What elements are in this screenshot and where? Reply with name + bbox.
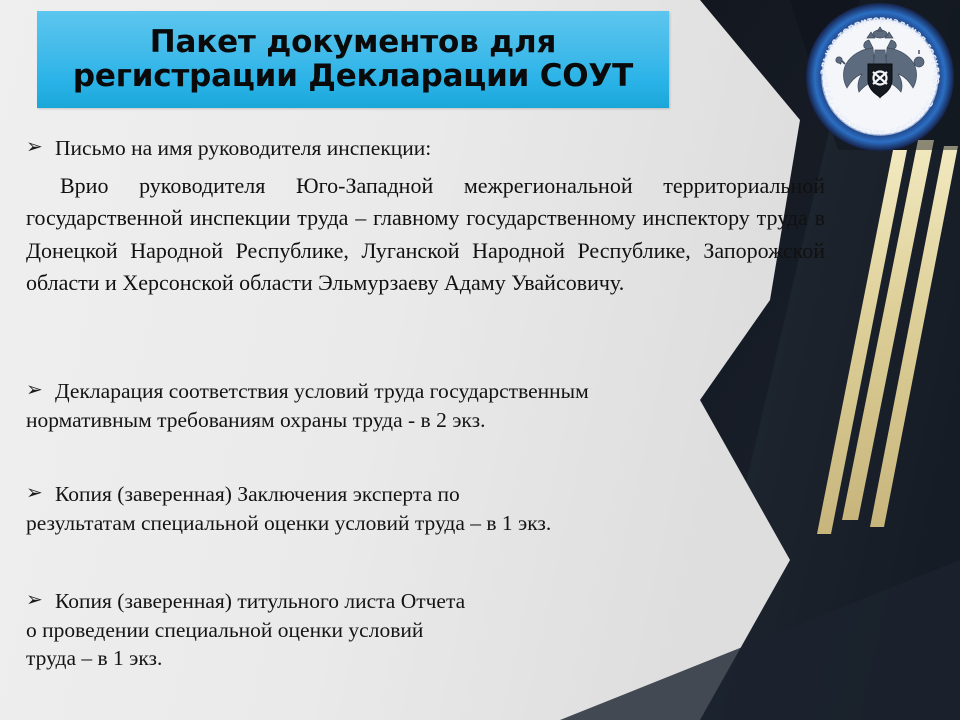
content-block-letter: ➢ Письмо на имя руководителя инспекции:	[0, 134, 860, 163]
bullet-arrow-icon: ➢	[26, 134, 43, 161]
slide-canvas: Пакет документов для регистрации Деклара…	[0, 0, 960, 720]
bullet-arrow-icon: ➢	[26, 480, 43, 507]
bullet-item-report-title-page: ➢ Копия (заверенная) титульного листа От…	[0, 587, 860, 616]
bullet-item-expert-opinion: ➢ Копия (заверенная) Заключения эксперта…	[0, 480, 860, 509]
expert-opinion-line-2: результатам специальной оценки условий т…	[0, 509, 860, 538]
bullet-item-declaration: ➢ Декларация соответствия условий труда …	[0, 377, 860, 406]
content-block-letter-body: Врио руководителя Юго-Западной межрегион…	[0, 170, 860, 299]
page-title: Пакет документов для регистрации Деклара…	[73, 26, 633, 92]
content-block-report-title-page: ➢ Копия (заверенная) титульного листа От…	[0, 587, 860, 673]
content-block-declaration: ➢ Декларация соответствия условий труда …	[0, 377, 860, 434]
letter-addressee-paragraph: Врио руководителя Юго-Западной межрегион…	[0, 170, 860, 299]
bullet-arrow-icon: ➢	[26, 587, 43, 614]
bullet-item-letter: ➢ Письмо на имя руководителя инспекции:	[0, 134, 860, 163]
report-title-page-line-2: о проведении специальной оценки условий	[0, 616, 860, 645]
government-emblem-logo: межрегиональная территориальная государс…	[805, 2, 955, 152]
bullet-arrow-icon: ➢	[26, 377, 43, 404]
bullet-heading-expert-opinion: Копия (заверенная) Заключения эксперта п…	[55, 480, 860, 509]
content-block-expert-opinion: ➢ Копия (заверенная) Заключения эксперта…	[0, 480, 860, 537]
declaration-line-2: нормативным требованиям охраны труда - в…	[0, 406, 860, 435]
bullet-heading-declaration: Декларация соответствия условий труда го…	[55, 377, 860, 406]
title-banner: Пакет документов для регистрации Деклара…	[37, 11, 669, 108]
bullet-heading-letter: Письмо на имя руководителя инспекции:	[55, 134, 860, 163]
bullet-heading-report-title-page: Копия (заверенная) титульного листа Отче…	[55, 587, 860, 616]
report-title-page-line-3: труда – в 1 экз.	[0, 644, 860, 673]
